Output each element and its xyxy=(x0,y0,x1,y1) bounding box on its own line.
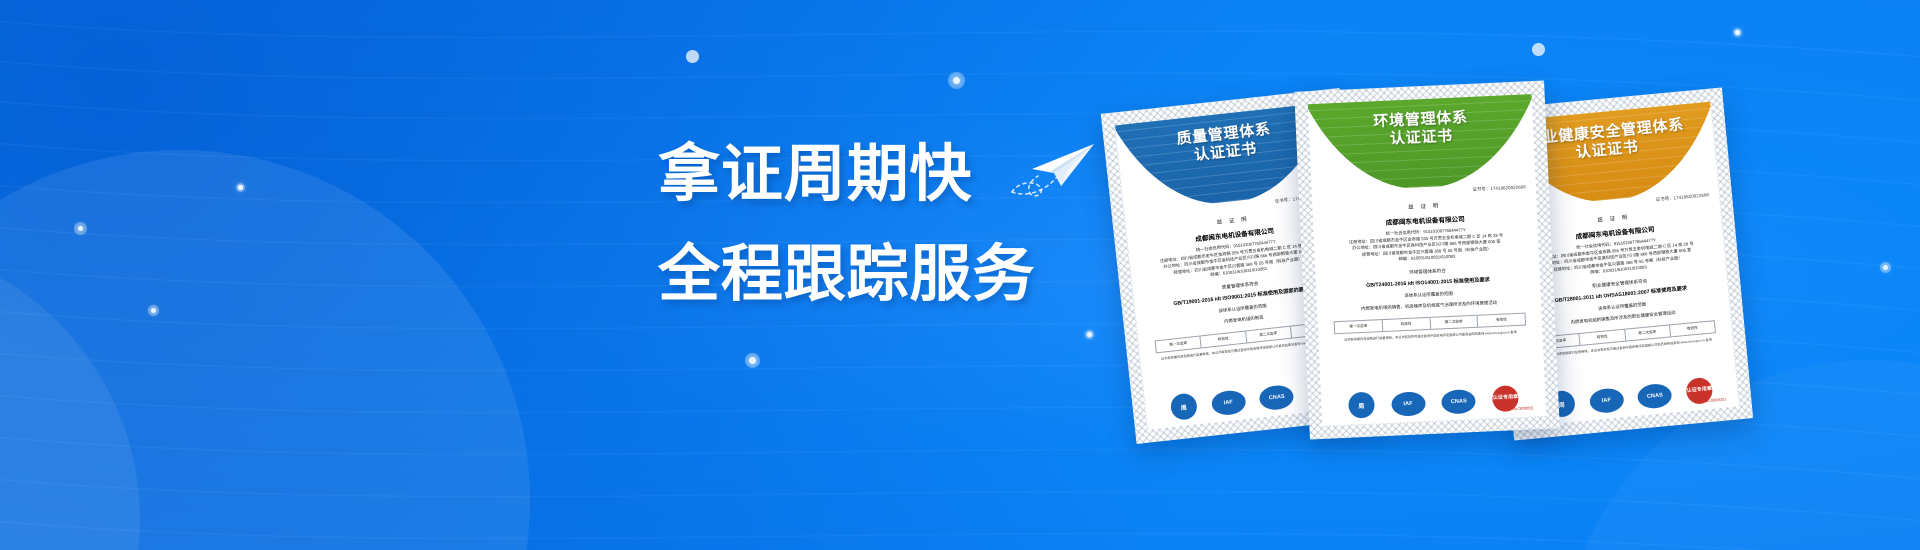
certificate-grid-cell: 有效性 xyxy=(1478,313,1525,326)
decor-circle-large xyxy=(0,150,530,550)
certificate-grid-cell: 有效性 xyxy=(1580,329,1626,344)
headline-line-2: 全程跟踪服务 xyxy=(658,236,1035,314)
certificate-no-label: 证书号： xyxy=(1472,186,1490,192)
certificate-grid-cell: 有效性 xyxy=(1382,317,1430,330)
certificate-grid-cell: 有效性 xyxy=(1670,321,1715,336)
decor-dot xyxy=(148,305,159,316)
decor-dot xyxy=(1085,330,1094,339)
certificate-card-environment[interactable]: 环境管理体系 认证证书 证书号：17419620022608 兹 证 明 成都闽… xyxy=(1294,81,1560,440)
promo-banner: 拿证周期快 全程跟踪服务 xyxy=(0,0,1920,550)
headline-line-1: 拿证周期快 xyxy=(658,136,972,214)
certificate-no-label: 证书号： xyxy=(1275,197,1293,204)
decor-dot xyxy=(1532,43,1545,56)
decor-dot xyxy=(74,222,87,235)
seal-iaf-icon: IAF xyxy=(1588,387,1624,414)
certificate-grid-cell: 有效性 xyxy=(1201,331,1247,347)
seal-cnas-icon: CNAS xyxy=(1637,383,1673,410)
certificate-grid-cell: 第一次监审 xyxy=(1156,336,1202,352)
seal-zhou-icon: 周 xyxy=(1169,392,1198,421)
seal-zhou-icon: 周 xyxy=(1348,392,1375,419)
decor-dot xyxy=(686,50,699,63)
certificate-grid-cell: 第二次监审 xyxy=(1430,315,1478,328)
paper-plane-icon xyxy=(994,140,1104,210)
seal-cnas-icon: CNAS xyxy=(1441,389,1476,415)
decor-dot xyxy=(745,353,760,368)
decor-dot xyxy=(236,183,245,192)
headline-line-1-row: 拿证周期快 xyxy=(658,136,1104,214)
seal-cnas-icon: CNAS xyxy=(1259,384,1295,412)
seal-iaf-icon: IAF xyxy=(1391,391,1426,417)
certificate-grid-cell: 第一次监审 xyxy=(1335,320,1383,333)
decor-dot xyxy=(948,72,965,89)
certificate-grid-cell: 第二次监审 xyxy=(1246,326,1292,342)
headline-block: 拿证周期快 全程跟踪服务 xyxy=(658,136,1104,314)
certificate-group: 质量管理体系 认证证书 证书号：17419620022608 兹 证 明 成都闽… xyxy=(1118,58,1920,498)
certificate-no: 17419620022608 xyxy=(1490,184,1526,191)
seal-iaf-icon: IAF xyxy=(1210,389,1246,417)
decor-dot xyxy=(1733,28,1742,37)
decor-circle-small xyxy=(0,240,140,550)
certificate-paper: 环境管理体系 认证证书 证书号：17419620022608 兹 证 明 成都闽… xyxy=(1308,94,1546,426)
headline-line-2-row: 全程跟踪服务 xyxy=(658,236,1104,314)
certificate-serial: No.0000001 xyxy=(1512,405,1534,411)
certificate-header-band: 环境管理体系 认证证书 xyxy=(1308,94,1536,192)
certificate-grid-cell: 第二次监审 xyxy=(1625,325,1671,340)
certificate-no: 17419620022608 xyxy=(1673,192,1709,200)
certificate-no-label: 证书号： xyxy=(1656,195,1674,202)
